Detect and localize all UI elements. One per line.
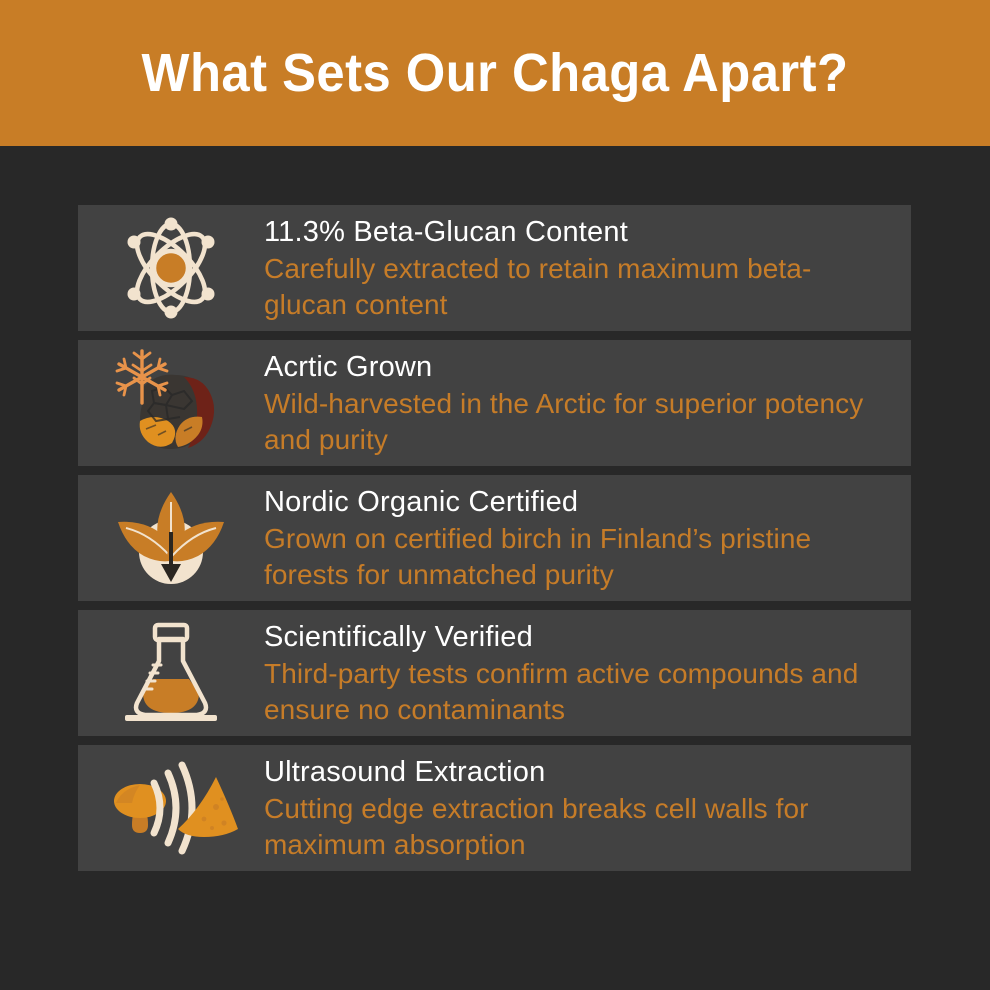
feature-card-text: Ultrasound Extraction Cutting edge extra…	[264, 754, 911, 863]
feature-card-text: Scientifically Verified Third-party test…	[264, 619, 911, 728]
feature-card-scientifically-verified[interactable]: Scientifically Verified Third-party test…	[78, 610, 911, 736]
feature-card-description: Third-party tests confirm active compoun…	[264, 656, 887, 728]
leaves-arrow-icon	[78, 483, 264, 593]
feature-card-text: Acrtic Grown Wild-harvested in the Arcti…	[264, 349, 911, 458]
feature-card-ultrasound-extraction[interactable]: Ultrasound Extraction Cutting edge extra…	[78, 745, 911, 871]
infographic-page: What Sets Our Chaga Apart?	[0, 0, 990, 990]
feature-card-list: 11.3% Beta-Glucan Content Carefully extr…	[78, 205, 911, 871]
feature-card-arctic-grown[interactable]: Acrtic Grown Wild-harvested in the Arcti…	[78, 340, 911, 466]
feature-card-title: Nordic Organic Certified	[264, 484, 887, 520]
feature-card-description: Wild-harvested in the Arctic for superio…	[264, 386, 887, 458]
feature-card-description: Grown on certified birch in Finland’s pr…	[264, 521, 887, 593]
feature-card-nordic-organic[interactable]: Nordic Organic Certified Grown on certif…	[78, 475, 911, 601]
feature-card-title: Scientifically Verified	[264, 619, 887, 655]
feature-card-text: Nordic Organic Certified Grown on certif…	[264, 484, 911, 593]
feature-card-text: 11.3% Beta-Glucan Content Carefully extr…	[264, 214, 911, 323]
feature-card-beta-glucan[interactable]: 11.3% Beta-Glucan Content Carefully extr…	[78, 205, 911, 331]
chaga-snowflake-icon	[78, 348, 264, 458]
feature-card-title: Ultrasound Extraction	[264, 754, 887, 790]
atom-icon	[78, 213, 264, 323]
feature-card-description: Cutting edge extraction breaks cell wall…	[264, 791, 887, 863]
feature-card-title: 11.3% Beta-Glucan Content	[264, 214, 887, 250]
flask-icon	[78, 618, 264, 728]
ultrasound-mushroom-icon	[78, 753, 264, 863]
feature-card-title: Acrtic Grown	[264, 349, 887, 385]
feature-card-description: Carefully extracted to retain maximum be…	[264, 251, 887, 323]
page-title: What Sets Our Chaga Apart?	[142, 46, 849, 100]
header-banner: What Sets Our Chaga Apart?	[0, 0, 990, 146]
